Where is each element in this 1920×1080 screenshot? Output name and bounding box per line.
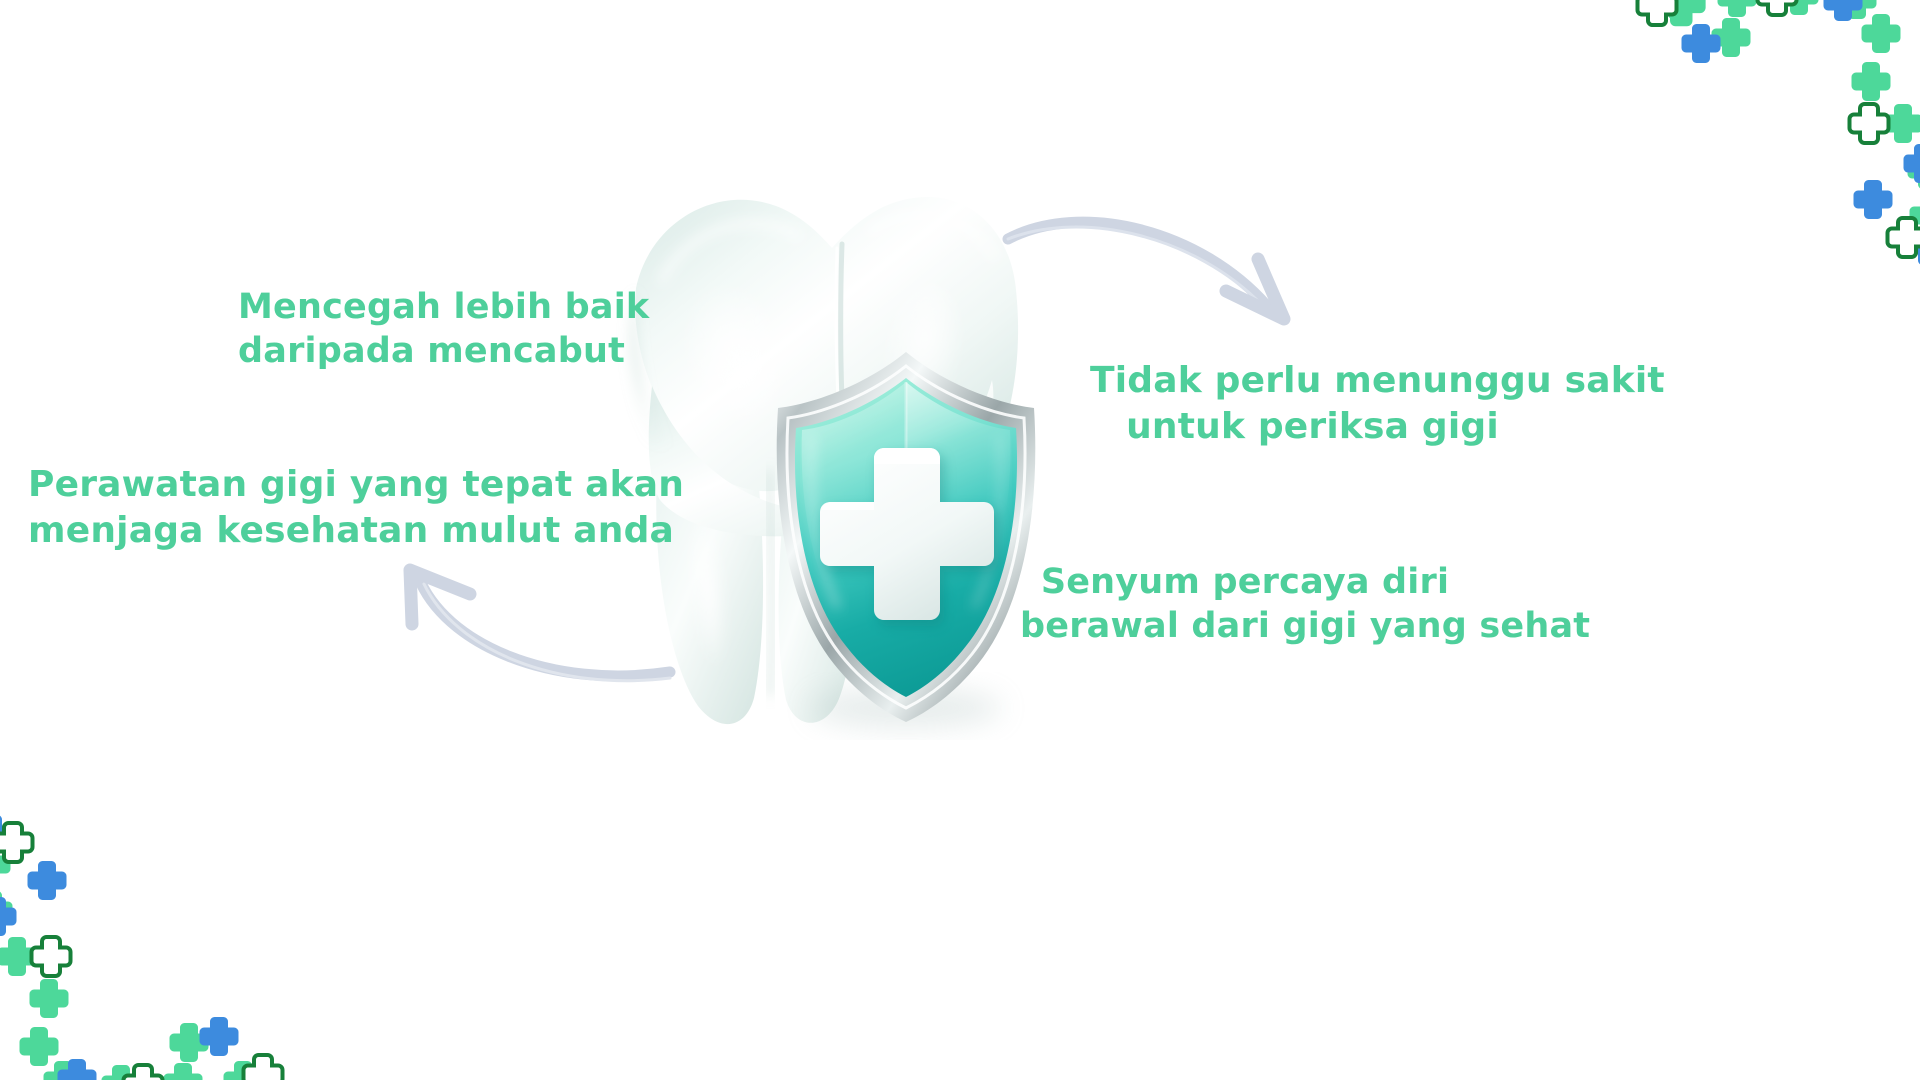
callout-smile-line-2: berawal dari gigi yang sehat: [1020, 604, 1470, 648]
cross-group-blue: [0, 815, 239, 1080]
cross-group-green: [0, 845, 263, 1080]
cross-group-outline: [1638, 0, 1920, 257]
callout-nowait-line-1: Tidak perlu menunggu sakit: [1090, 358, 1535, 404]
cross-cluster-top-right: [1620, 0, 1920, 300]
callout-smile: Senyum percaya diri berawal dari gigi ya…: [1020, 560, 1470, 649]
callout-care-line-2: menjaga kesehatan mulut anda: [28, 508, 548, 554]
cross-group-blue: [1682, 0, 1920, 265]
callout-care-line-1: Perawatan gigi yang tepat akan: [28, 462, 548, 508]
callout-nowait: Tidak perlu menunggu sakit untuk periksa…: [1090, 358, 1535, 449]
callout-nowait-line-2: untuk periksa gigi: [1090, 404, 1535, 450]
callout-smile-line-1: Senyum percaya diri: [1020, 560, 1470, 604]
callout-prevent-line-2: daripada mencabut: [238, 329, 558, 373]
cross-glyph-green-filled: [1657, 0, 1706, 26]
infographic-canvas: Mencegah lebih baik daripada mencabut Pe…: [0, 0, 1920, 1080]
callout-prevent-line-1: Mencegah lebih baik: [238, 285, 558, 329]
callout-prevent: Mencegah lebih baik daripada mencabut: [238, 285, 558, 374]
cross-cluster-bottom-left: [0, 780, 300, 1080]
callout-care: Perawatan gigi yang tepat akan menjaga k…: [28, 462, 548, 553]
tooth-with-shield-illustration: [540, 140, 1100, 740]
cross-group-green: [1658, 0, 1920, 235]
cross-group-outline: [0, 823, 283, 1080]
